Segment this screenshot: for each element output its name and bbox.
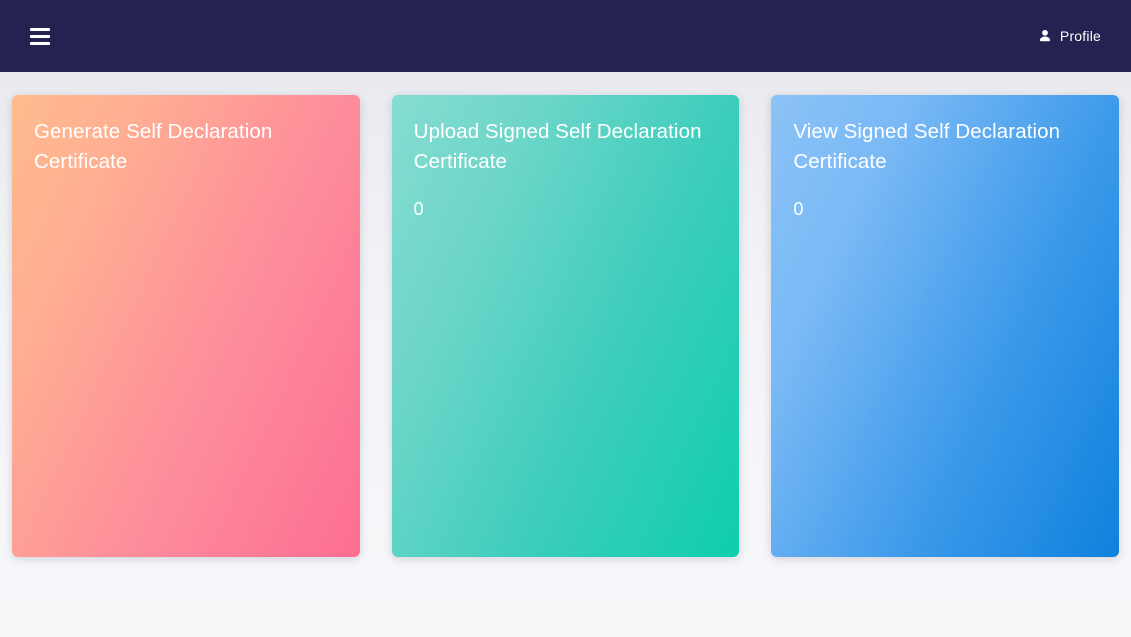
top-navbar: Profile (0, 0, 1131, 72)
dashboard-card-row: Generate Self Declaration Certificate Up… (12, 95, 1119, 557)
profile-menu-item[interactable]: Profile (1034, 22, 1105, 50)
card-count: 0 (793, 196, 1097, 222)
navbar-left-section (26, 24, 54, 48)
upload-signed-self-declaration-certificate-card[interactable]: Upload Signed Self Declaration Certifica… (392, 95, 740, 557)
hamburger-menu-icon[interactable] (26, 24, 54, 48)
user-icon (1038, 29, 1052, 43)
card-count: 0 (414, 196, 718, 222)
main-content: Generate Self Declaration Certificate Up… (0, 72, 1131, 557)
card-title: View Signed Self Declaration Certificate (793, 117, 1097, 177)
card-title: Generate Self Declaration Certificate (34, 117, 338, 177)
card-title: Upload Signed Self Declaration Certifica… (414, 117, 718, 177)
hamburger-bar-2 (30, 35, 50, 38)
view-signed-self-declaration-certificate-card[interactable]: View Signed Self Declaration Certificate… (771, 95, 1119, 557)
profile-label: Profile (1060, 28, 1101, 44)
navbar-right-section: Profile (1034, 22, 1105, 50)
hamburger-bar-1 (30, 28, 50, 31)
hamburger-bar-3 (30, 42, 50, 45)
generate-self-declaration-certificate-card[interactable]: Generate Self Declaration Certificate (12, 95, 360, 557)
